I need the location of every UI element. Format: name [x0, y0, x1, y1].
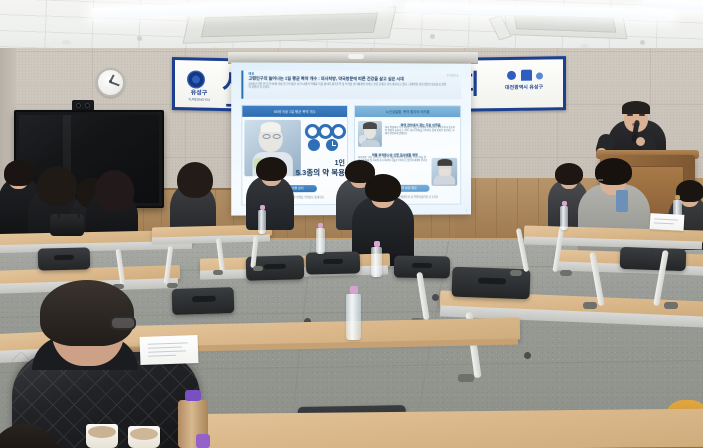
coffee-cup[interactable] [128, 426, 160, 448]
attendee-glasses-icon [598, 179, 603, 181]
panel-right-header: 노인성질환, 복약 환자의 어려움 [355, 106, 460, 117]
panel-right-block1-body: 여러 병원에서 각각 처방받은 약을 한꺼번에 복용하면서 중복투약과 상호작용… [385, 127, 456, 136]
screen-housing-knob-icon [348, 54, 364, 59]
small-purple-cap-icon [196, 434, 210, 448]
presenter-hand-right [636, 137, 645, 146]
panel-right-header-text: 노인성질환, 복약 환자의 어려움 [355, 109, 460, 114]
attendee-hair [4, 160, 34, 186]
handout-paper[interactable] [650, 213, 685, 231]
desk-leg-foot [253, 266, 263, 271]
presenter-hair [622, 101, 650, 114]
chair-caster [432, 294, 439, 301]
person-covering-face-photo [432, 158, 458, 186]
pill-circle-icon-5 [326, 139, 338, 151]
coffee-cup[interactable] [86, 424, 118, 448]
foreground-glasses-icon [110, 316, 136, 330]
slide-page-mark: 소주제안내 [446, 73, 458, 77]
desk-leg-foot [213, 270, 223, 275]
sprinkler-icon [430, 34, 435, 39]
presenter-eye-right [639, 114, 645, 116]
bottle-cap-icon [562, 201, 567, 206]
attendee-hair [676, 180, 703, 202]
bottle-cap-icon [374, 241, 380, 247]
ceiling-downlight-icon [62, 40, 71, 45]
water-bottle[interactable] [316, 228, 325, 254]
desk-leg-foot [167, 283, 178, 288]
sprinkler-icon [640, 40, 645, 45]
water-bottle[interactable] [560, 206, 568, 230]
attendee-lanyard-icon [616, 190, 628, 212]
seminar-room-photo: 유성구 YUSEONG-GU 시ㄱ 회 대전광역시 유성구 배경 고령인구의 늘… [0, 0, 703, 448]
attendee-hair-long [37, 166, 77, 206]
wall-clock [96, 68, 125, 97]
bottle-cap-icon [675, 195, 680, 200]
banner-right-emblem-icon: 대전광역시 유성구 [493, 69, 555, 98]
banner-right-emblem-text: 대전광역시 유성구 [493, 83, 555, 91]
chair-center-2[interactable] [306, 251, 361, 274]
desk-leg-foot [583, 302, 597, 309]
bottle-cap-icon [260, 205, 265, 210]
banner-left-emblem-sub: YUSEONG-GU [182, 97, 216, 102]
attendee-hair [365, 174, 401, 202]
slide-page-number: 7 [466, 209, 467, 212]
slide-header: 배경 고령인구의 늘어나는 1일 평균 복약 개수 : 의사처방, 약국방문에 … [241, 71, 461, 100]
bottle-cap-icon [350, 286, 358, 294]
slide-title: 고령인구의 늘어나는 1일 평균 복약 개수 : 의사처방, 약국방문에 따른 … [248, 76, 454, 82]
chair-back-left[interactable] [38, 247, 91, 270]
beverage-bottle-cap-icon [185, 390, 201, 401]
handout-paper[interactable] [140, 335, 199, 365]
sprinkler-icon [137, 36, 142, 41]
chair-mid-left[interactable] [172, 287, 235, 315]
desk-leg-foot [560, 270, 572, 276]
chair-caster [524, 352, 531, 359]
handbag [50, 214, 84, 236]
slide-body-text: 2024년 기준 전국 만 65세 이상 인구의 평균 1인 5.3종의 약제를… [248, 83, 448, 90]
chair-right-back[interactable] [620, 247, 687, 271]
pill-circle-icon-3 [331, 124, 346, 139]
attendee-hair [555, 163, 583, 185]
water-bottle[interactable] [371, 247, 382, 277]
pill-circle-icon-4 [308, 139, 320, 151]
panel-left-header: 65세 이상 1일 평균 복약 개수 [242, 106, 347, 117]
attendee-hair [256, 157, 287, 181]
handbag-handle [58, 207, 80, 218]
water-bottle[interactable] [258, 210, 266, 234]
yuseong-gu-emblem-icon [187, 70, 205, 88]
panel-left-stat-line2: 5.3종의 약 복용 [291, 167, 345, 178]
desk-leg-foot [458, 374, 474, 382]
attendee-hair-long [177, 162, 213, 198]
attendee-hair-long [95, 170, 134, 212]
bottle-cap-icon [318, 223, 323, 228]
person-headache-photo [358, 121, 382, 147]
water-bottle[interactable] [346, 294, 361, 340]
desk-leg-foot [664, 302, 678, 309]
desk-leg-foot [510, 270, 522, 276]
presenter-eye-left [627, 114, 633, 116]
panel-left-header-text: 65세 이상 1일 평균 복약 개수 [242, 108, 347, 113]
foreground-hair [40, 280, 134, 346]
